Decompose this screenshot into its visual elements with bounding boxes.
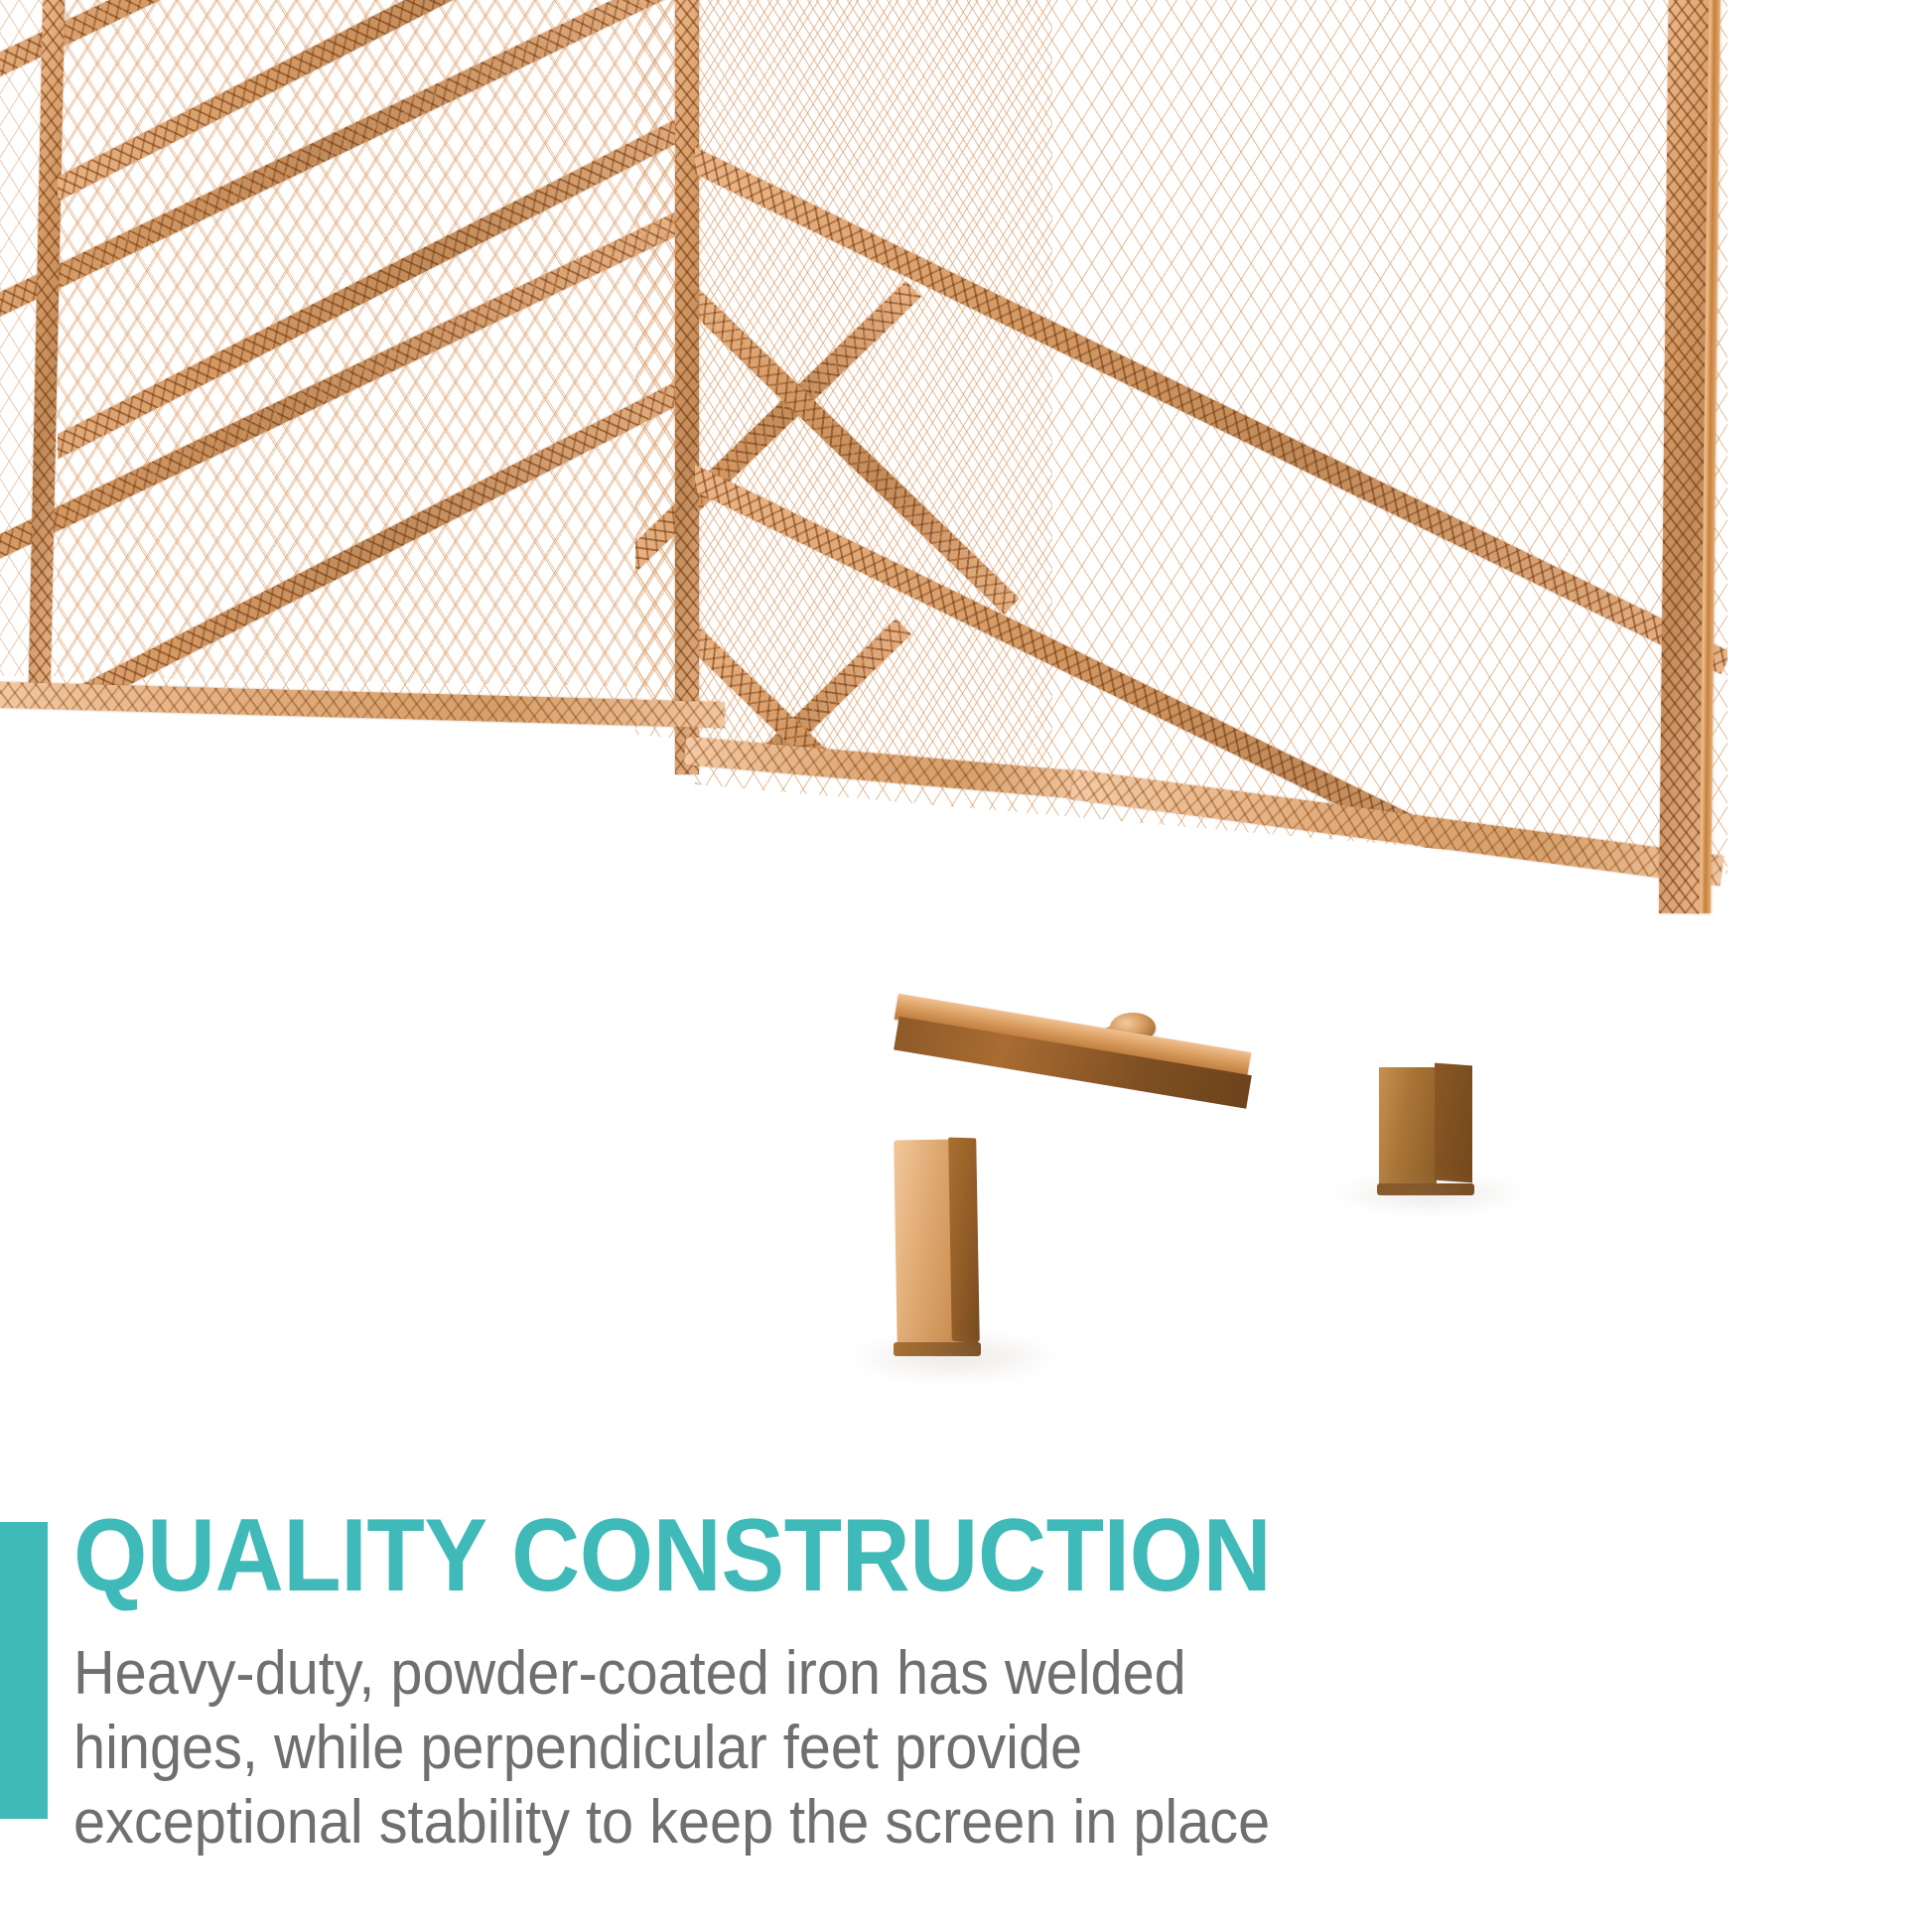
- foot-shadow-front: [844, 1330, 1062, 1384]
- body-line-1: Heavy-duty, powder-coated iron has welde…: [73, 1636, 1311, 1711]
- body-line-3: exceptional stability to keep the screen…: [73, 1785, 1311, 1860]
- rear-foot-post-front: [1379, 1067, 1437, 1188]
- body-line-2: hinges, while perpendicular feet provide: [73, 1711, 1311, 1785]
- rear-foot-post-side: [1435, 1063, 1472, 1183]
- front-foot-leg-side: [948, 1138, 980, 1343]
- foot-shadow-rear: [1330, 1172, 1529, 1215]
- marketing-image-canvas: QUALITY CONSTRUCTION Heavy-duty, powder-…: [0, 0, 1932, 1932]
- screen-panel-center-left: [58, 0, 693, 735]
- page-title: QUALITY CONSTRUCTION: [73, 1501, 1271, 1610]
- front-foot-leg-front: [894, 1140, 955, 1354]
- teal-accent-bar: [0, 1522, 48, 1819]
- callout-body-text: Heavy-duty, powder-coated iron has welde…: [73, 1636, 1311, 1860]
- product-photo: [0, 0, 1932, 1410]
- mesh-fill-center-left: [58, 0, 693, 735]
